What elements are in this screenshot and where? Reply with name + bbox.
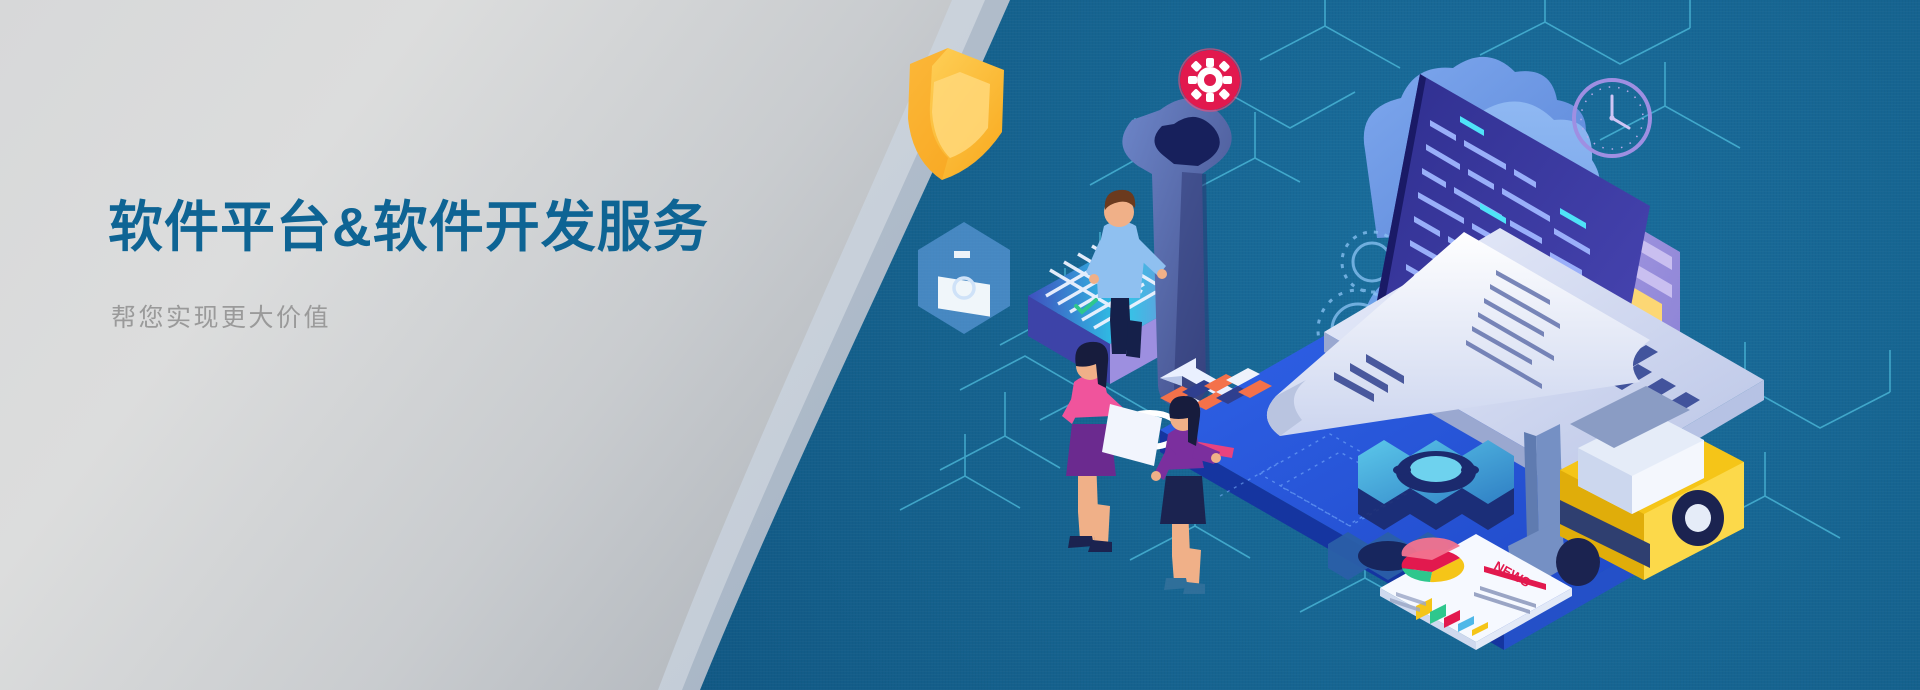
hero-banner: NEWS: [0, 0, 1920, 690]
pie-chart-icon: [1402, 538, 1465, 583]
clock-icon: [1574, 80, 1650, 156]
camera-icon: [918, 222, 1010, 334]
gear-badge-icon: [1179, 49, 1241, 111]
page-subtitle: 帮您实现更大价值: [111, 302, 828, 335]
page-title: 软件平台&软件开发服务: [108, 196, 828, 260]
shield-icon: [908, 48, 1004, 180]
isometric-illustration: NEWS: [860, 0, 1920, 690]
banner-text-block: 软件平台&软件开发服务 帮您实现更大价值: [108, 196, 828, 334]
